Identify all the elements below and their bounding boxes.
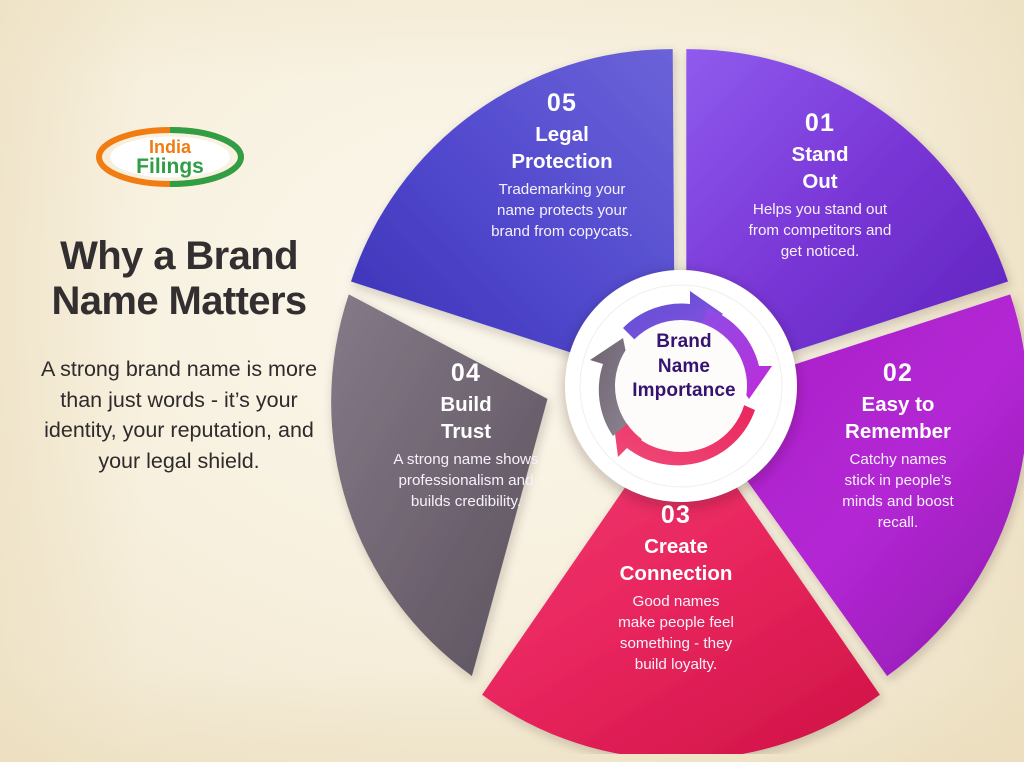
logo-text-filings: Filings — [136, 155, 204, 178]
logo-text-india: India — [149, 137, 192, 157]
page-subtitle: A strong brand name is more than just wo… — [24, 354, 334, 476]
page-title: Why a Brand Name Matters — [14, 234, 344, 324]
indiafilings-logo[interactable]: India Filings — [96, 126, 244, 188]
pie-segment-04[interactable] — [331, 294, 547, 676]
infographic-canvas: India Filings Why a Brand Name Matters A… — [0, 0, 1024, 762]
hub-inner-disc — [615, 320, 747, 452]
brand-importance-wheel — [318, 8, 1024, 754]
left-text-panel: India Filings Why a Brand Name Matters A… — [0, 0, 350, 762]
